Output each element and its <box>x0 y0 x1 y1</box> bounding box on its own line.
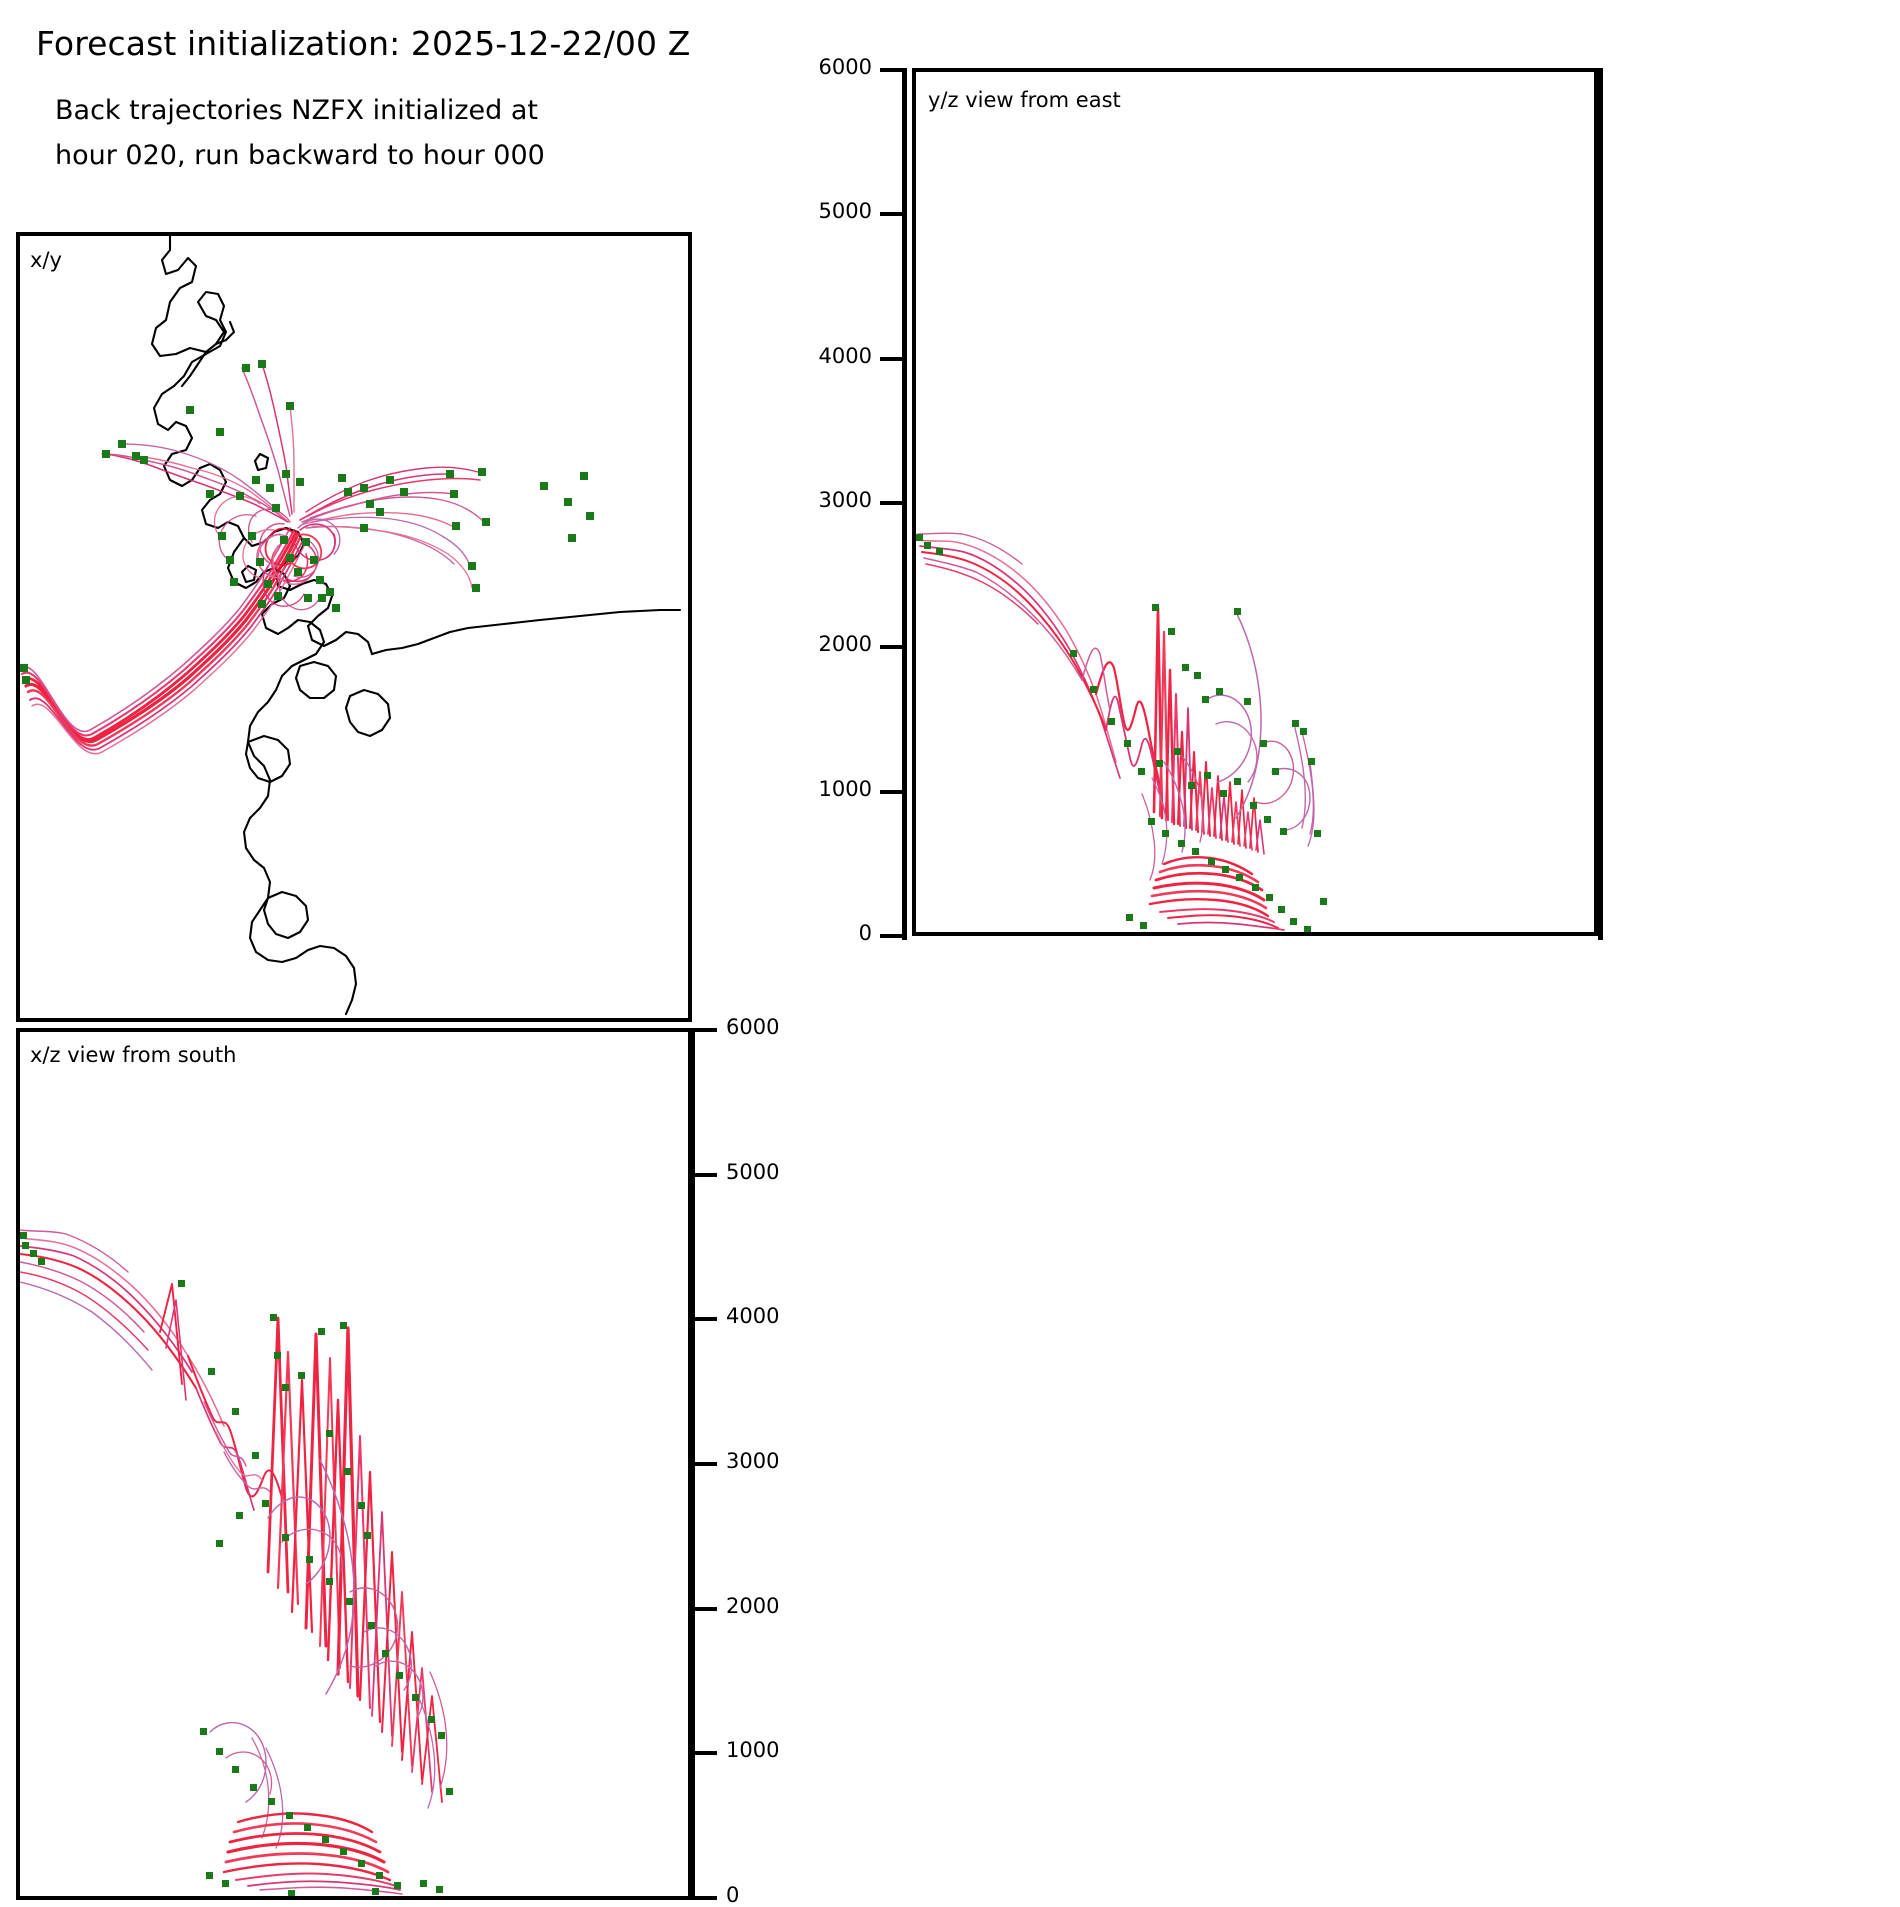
axis-tick-label: 1000 <box>726 1738 779 1762</box>
panel-yz-cross-section <box>912 68 1598 936</box>
axis-tick <box>695 1173 717 1177</box>
axis-tick-label: 3000 <box>726 1449 779 1473</box>
axis-tick <box>695 1317 717 1321</box>
endpoint-markers-xz <box>20 1232 453 1896</box>
axis-tick-label: 6000 <box>819 55 872 79</box>
panel-xz-cross-section <box>16 1028 692 1900</box>
axis-tick-label: 3000 <box>819 488 872 512</box>
axis-tick <box>695 1751 717 1755</box>
axis-tick <box>695 1028 717 1032</box>
yz-axis-right-spine <box>1598 68 1603 940</box>
axis-tick <box>880 934 902 938</box>
axis-tick-label: 6000 <box>726 1015 779 1039</box>
axis-tick-label: 5000 <box>819 199 872 223</box>
axis-tick <box>695 1462 717 1466</box>
yz-plot-canvas <box>916 72 1594 932</box>
panel-xz-label: x/z view from south <box>30 1043 236 1067</box>
axis-tick <box>880 212 902 216</box>
axis-tick <box>695 1607 717 1611</box>
axis-tick-label: 4000 <box>726 1304 779 1328</box>
page-title: Forecast initialization: 2025-12-22/00 Z <box>36 24 690 63</box>
panel-yz-label: y/z view from east <box>928 88 1121 112</box>
axis-tick-label: 2000 <box>819 632 872 656</box>
trajectory-paths-xz <box>20 1230 447 1894</box>
trajectory-paths-xy <box>20 364 484 754</box>
axis-tick-label: 2000 <box>726 1594 779 1618</box>
xy-plot-canvas <box>20 236 688 1018</box>
axis-tick-label: 4000 <box>819 344 872 368</box>
page-subtitle: Back trajectories NZFX initialized at ho… <box>55 88 545 178</box>
axis-tick <box>880 645 902 649</box>
axis-tick <box>695 1896 717 1900</box>
axis-tick <box>880 68 902 72</box>
xz-plot-canvas <box>20 1032 688 1896</box>
axis-tick <box>880 501 902 505</box>
endpoint-markers-yz <box>916 534 1327 932</box>
axis-tick-label: 0 <box>726 1883 739 1907</box>
axis-tick-label: 1000 <box>819 777 872 801</box>
axis-tick-label: 0 <box>859 921 872 945</box>
trajectory-paths-yz <box>918 533 1314 930</box>
yz-axis-left-spine <box>902 68 907 940</box>
panel-xy-plan-view <box>16 232 692 1022</box>
axis-tick <box>880 790 902 794</box>
xz-axis-right-spine <box>690 1028 695 1900</box>
axis-tick <box>880 357 902 361</box>
axis-tick-label: 5000 <box>726 1160 779 1184</box>
panel-xy-label: x/y <box>30 248 62 272</box>
